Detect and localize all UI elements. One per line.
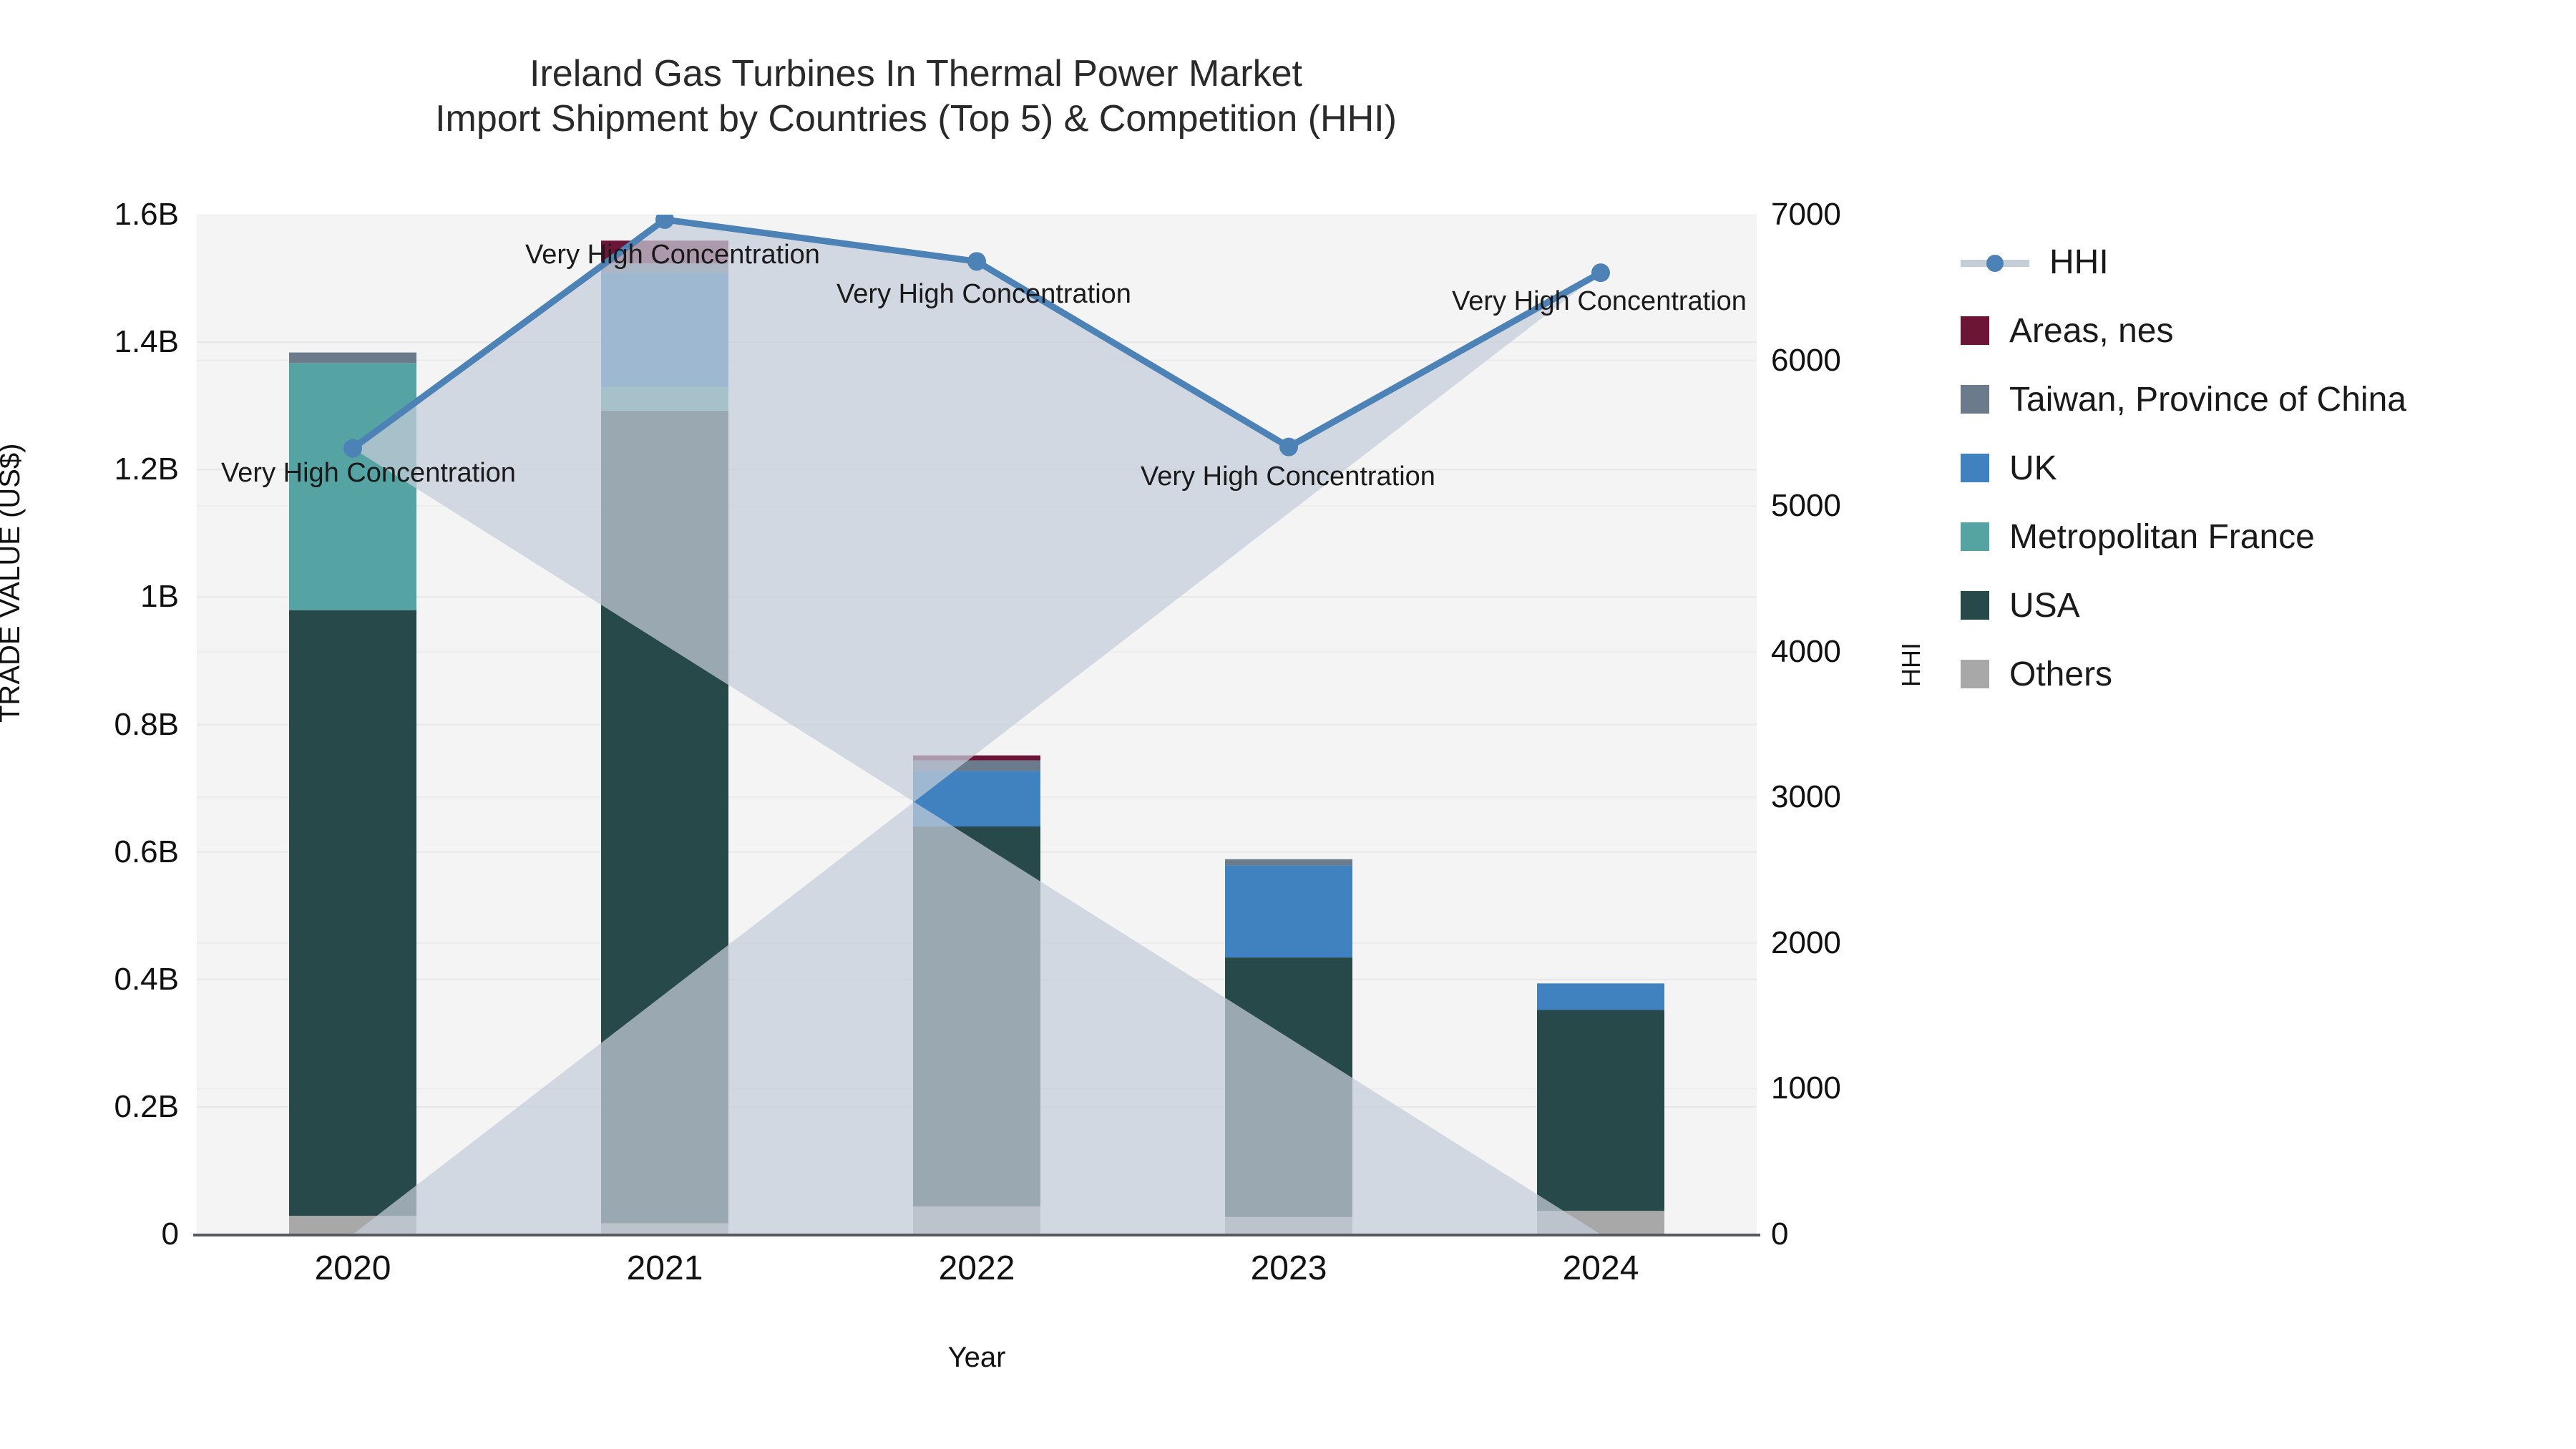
legend-color-swatch (1961, 385, 1989, 414)
hhi-point-marker[interactable] (967, 252, 986, 270)
hhi-point-marker[interactable] (1279, 438, 1298, 457)
chart-title-line-2: Import Shipment by Countries (Top 5) & C… (0, 97, 1832, 142)
y-axis-left-tick-label: 1B (7, 579, 179, 615)
concentration-annotation: Very High Concentration (836, 279, 1131, 310)
legend-item-label: USA (2009, 586, 2080, 625)
legend-item-label: HHI (2049, 243, 2109, 282)
chart-title-line-1: Ireland Gas Turbines In Thermal Power Ma… (0, 52, 1832, 97)
y-axis-left-tick-label: 1.4B (7, 324, 179, 360)
y-axis-left-tick-label: 0.6B (7, 834, 179, 870)
chart-legend: HHIAreas, nesTaiwan, Province of ChinaUK… (1961, 228, 2406, 708)
legend-color-swatch (1961, 522, 1989, 551)
legend-item-label: Taiwan, Province of China (2009, 380, 2406, 419)
legend-item[interactable]: UK (1961, 434, 2406, 502)
chart-title: Ireland Gas Turbines In Thermal Power Ma… (0, 52, 1832, 142)
y-axis-left-tick-label: 0 (7, 1216, 179, 1252)
y-axis-right-tick-label: 1000 (1771, 1070, 1841, 1106)
bar-segment[interactable] (1537, 983, 1664, 1010)
bar-segment[interactable] (1537, 1010, 1664, 1211)
y-axis-right-tick-label: 5000 (1771, 488, 1841, 524)
legend-item[interactable]: Taiwan, Province of China (1961, 365, 2406, 434)
hhi-point-marker[interactable] (1591, 263, 1610, 282)
legend-item[interactable]: Metropolitan France (1961, 502, 2406, 571)
y-axis-right-tick-label: 4000 (1771, 634, 1841, 670)
y-axis-left-tick-label: 1.2B (7, 452, 179, 487)
plot-area (197, 215, 1757, 1234)
y-axis-left-tick-label: 0.2B (7, 1089, 179, 1125)
x-axis-tick-label: 2021 (557, 1249, 772, 1288)
bar-segment[interactable] (1225, 859, 1352, 866)
x-axis-tick-label: 2024 (1493, 1249, 1708, 1288)
legend-item-label: UK (2009, 449, 2057, 488)
y-axis-left-title: TRADE VALUE (US$) (0, 444, 26, 723)
legend-item-label: Areas, nes (2009, 311, 2173, 351)
legend-line-marker-icon (1961, 248, 2029, 276)
legend-item[interactable]: Areas, nes (1961, 296, 2406, 365)
y-axis-left-tick-label: 0.4B (7, 962, 179, 997)
bar-group (1537, 983, 1664, 1234)
x-axis-tick-label: 2022 (869, 1249, 1084, 1288)
legend-line-dot (1986, 255, 2004, 272)
concentration-annotation: Very High Concentration (1141, 462, 1435, 492)
concentration-annotation: Very High Concentration (1452, 286, 1747, 317)
y-axis-right-title: HHI (1896, 643, 1926, 687)
hhi-point-marker[interactable] (343, 439, 362, 458)
x-axis-tick-label: 2023 (1181, 1249, 1396, 1288)
y-axis-right-tick-label: 6000 (1771, 343, 1841, 379)
y-axis-right-tick-label: 2000 (1771, 925, 1841, 961)
y-axis-left-tick-label: 0.8B (7, 707, 179, 743)
bar-segment[interactable] (289, 353, 416, 364)
legend-color-swatch (1961, 591, 1989, 620)
y-axis-right-tick-label: 7000 (1771, 197, 1841, 233)
chart-root: Ireland Gas Turbines In Thermal Power Ma… (0, 0, 2576, 1449)
chart-canvas (197, 215, 1757, 1234)
legend-item-label: Metropolitan France (2009, 517, 2315, 557)
bar-segment[interactable] (1225, 865, 1352, 957)
legend-item[interactable]: USA (1961, 571, 2406, 640)
y-axis-right-tick-label: 0 (1771, 1216, 1788, 1252)
x-axis-tick-label: 2020 (245, 1249, 460, 1288)
plot-inner (197, 215, 1757, 1234)
concentration-annotation: Very High Concentration (221, 458, 516, 489)
x-axis-title: Year (197, 1342, 1757, 1374)
bar-segment[interactable] (289, 610, 416, 1216)
y-axis-right-tick-label: 3000 (1771, 779, 1841, 815)
legend-color-swatch (1961, 316, 1989, 345)
legend-item[interactable]: Others (1961, 640, 2406, 708)
legend-item-label: Others (2009, 655, 2112, 694)
y-axis-left-tick-label: 1.6B (7, 197, 179, 233)
legend-item[interactable]: HHI (1961, 228, 2406, 296)
hhi-area-fill (353, 220, 1601, 1234)
legend-color-swatch (1961, 454, 1989, 482)
legend-color-swatch (1961, 660, 1989, 688)
concentration-annotation: Very High Concentration (525, 240, 820, 270)
x-axis-line (193, 1234, 1760, 1236)
